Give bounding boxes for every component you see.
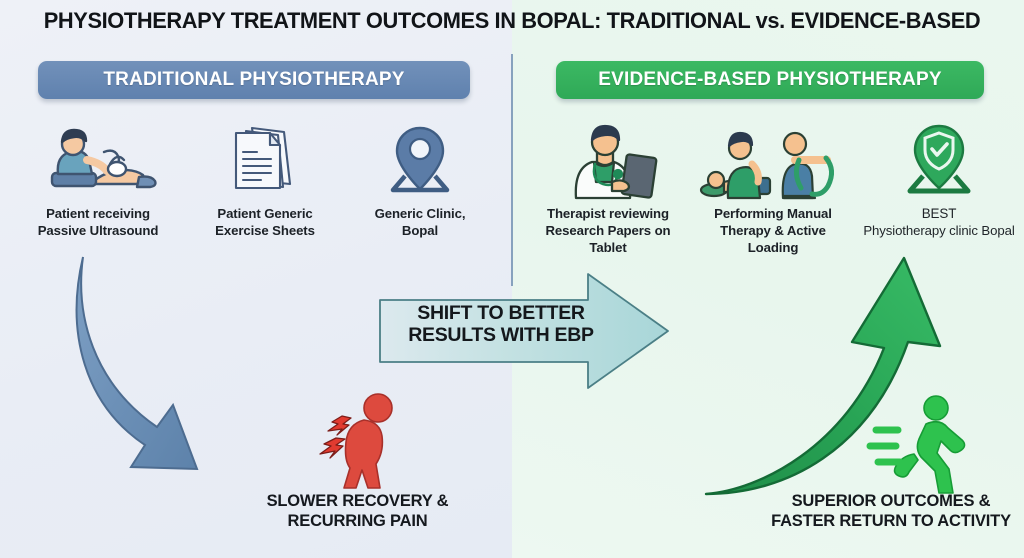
caption-line-1: Patient receiving	[46, 206, 150, 221]
caption-line-1: Therapist reviewing	[547, 206, 669, 221]
traditional-column-header: TRADITIONAL PHYSIOTHERAPY	[38, 61, 470, 99]
traditional-column-header-label: TRADITIONAL PHYSIOTHERAPY	[103, 69, 404, 91]
card-best-clinic: BEST Physiotherapy clinic Bopal	[855, 118, 1023, 240]
card-caption: Patient Generic Exercise Sheets	[195, 205, 335, 239]
exercise-sheets-icon	[195, 118, 335, 198]
infographic-canvas: PHYSIOTHERAPY TREATMENT OUTCOMES IN BOPA…	[0, 0, 1024, 558]
card-caption: Performing Manual Therapy & Active Loadi…	[693, 205, 853, 256]
traditional-outcome: SLOWER RECOVERY & RECURRING PAIN	[230, 492, 485, 532]
caption-line-1: Patient Generic	[217, 206, 312, 221]
caption-line-2: Exercise Sheets	[215, 223, 315, 238]
panel-divider	[511, 54, 513, 286]
evidence-column-header-label: EVIDENCE-BASED PHYSIOTHERAPY	[598, 69, 941, 91]
card-caption: Therapist reviewing Research Papers on T…	[528, 205, 688, 256]
outcome-line-2: RECURRING PAIN	[288, 512, 428, 530]
outcome-line-2: FASTER RETURN TO ACTIVITY	[771, 512, 1011, 530]
caption-line-2: Research Papers on	[545, 223, 670, 238]
card-exercise-sheets: Patient Generic Exercise Sheets	[195, 118, 335, 239]
right-block-arrow: SHIFT TO BETTER RESULTS WITH EBP	[378, 272, 670, 390]
caption-line-1: Performing Manual	[714, 206, 832, 221]
page-title: PHYSIOTHERAPY TREATMENT OUTCOMES IN BOPA…	[15, 8, 1008, 34]
outcome-line-1: SUPERIOR OUTCOMES &	[792, 492, 991, 510]
card-therapist-research: Therapist reviewing Research Papers on T…	[528, 118, 688, 256]
outcome-line-1: SLOWER RECOVERY &	[267, 492, 449, 510]
caption-line-2: Passive Ultrasound	[38, 223, 159, 238]
map-pin-icon	[350, 118, 490, 198]
traditional-outcome-text: SLOWER RECOVERY & RECURRING PAIN	[230, 492, 485, 532]
patient-ultrasound-icon	[18, 118, 178, 198]
caption-line-2: Bopal	[402, 223, 438, 238]
manual-therapy-resistance-band-icon	[693, 118, 853, 198]
evidence-outcome: SUPERIOR OUTCOMES & FASTER RETURN TO ACT…	[760, 492, 1022, 532]
back-pain-figure-icon	[306, 388, 416, 488]
caption-line-3: Tablet	[589, 240, 626, 255]
card-patient-ultrasound: Patient receiving Passive Ultrasound	[18, 118, 178, 239]
downward-curved-arrow	[45, 255, 335, 485]
card-caption: BEST Physiotherapy clinic Bopal	[855, 205, 1023, 240]
evidence-column-header: EVIDENCE-BASED PHYSIOTHERAPY	[556, 61, 984, 99]
caption-line-1: BEST	[855, 205, 1023, 222]
therapist-tablet-icon	[528, 118, 688, 198]
running-figure-icon	[868, 392, 978, 497]
card-caption: Generic Clinic, Bopal	[350, 205, 490, 239]
evidence-outcome-text: SUPERIOR OUTCOMES & FASTER RETURN TO ACT…	[760, 492, 1022, 532]
caption-line-2: Therapy & Active	[720, 223, 826, 238]
caption-line-1: Generic Clinic,	[375, 206, 466, 221]
card-generic-clinic: Generic Clinic, Bopal	[350, 118, 490, 239]
card-manual-therapy: Performing Manual Therapy & Active Loadi…	[693, 118, 853, 256]
caption-line-2: Physiotherapy clinic Bopal	[863, 223, 1014, 238]
shift-label-line-2: RESULTS WITH EBP	[408, 324, 594, 346]
verified-shield-pin-icon	[855, 118, 1023, 198]
card-caption: Patient receiving Passive Ultrasound	[18, 205, 178, 239]
shift-label-line-1: SHIFT TO BETTER	[417, 302, 584, 324]
shift-arrow-label: SHIFT TO BETTER RESULTS WITH EBP	[396, 302, 606, 346]
